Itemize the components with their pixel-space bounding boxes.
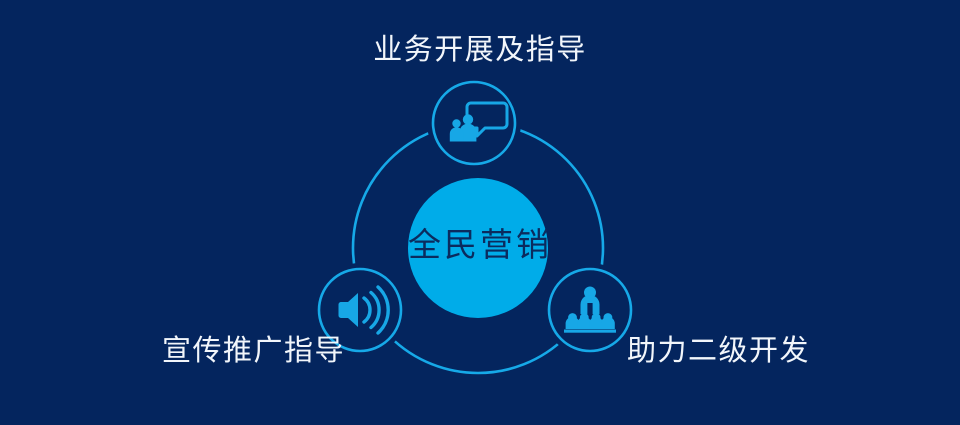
node-right-label: 助力二级开发: [627, 337, 810, 366]
center-hub-label: 全民营销: [0, 228, 960, 261]
node-top[interactable]: [433, 82, 515, 164]
node-top-label: 业务开展及指导: [0, 36, 960, 65]
node-right[interactable]: [549, 269, 631, 351]
node-top-circle: [433, 82, 515, 164]
node-left-label: 宣传推广指导: [162, 337, 345, 366]
slide-canvas: 全民营销 业务开展及指导 宣传推广指导 助力二级开发: [0, 0, 960, 425]
